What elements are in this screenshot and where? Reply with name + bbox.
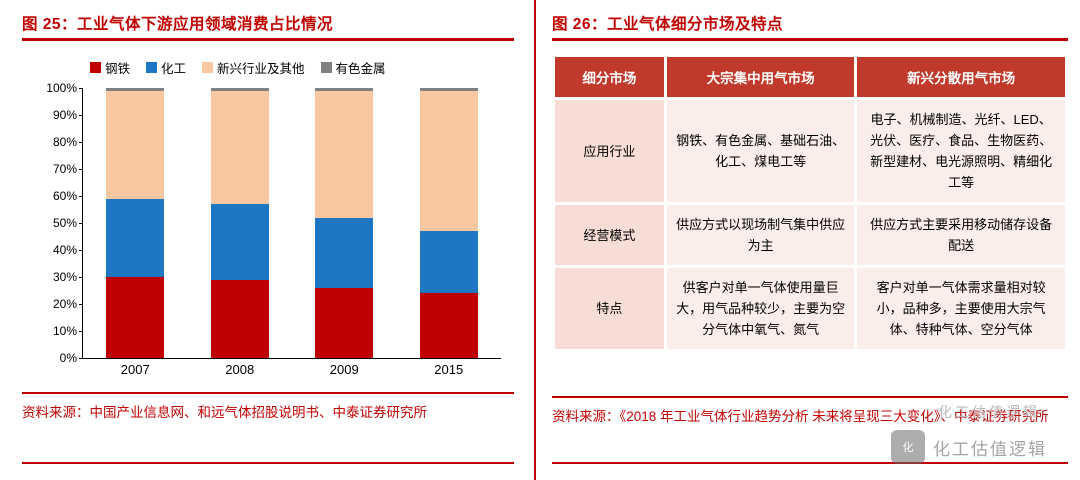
table-header-2: 新兴分散用气市场 <box>857 57 1065 97</box>
legend-label-steel: 钢铁 <box>105 58 130 77</box>
table-row: 应用行业 钢铁、有色金属、基础石油、化工、煤电工等 电子、机械制造、光纤、LED… <box>555 100 1065 202</box>
watermark-text: 化工估值逻辑 <box>933 435 1047 460</box>
figure-25-source: 资料来源：中国产业信息网、和远气体招股说明书、中泰证券研究所 <box>22 400 517 426</box>
legend-label-nonferrous: 有色金属 <box>336 58 386 77</box>
y-axis-tick-mark <box>79 196 83 197</box>
legend-swatch-chemical <box>146 62 157 73</box>
row-0-col-2: 电子、机械制造、光纤、LED、光伏、医疗、食品、生物医药、新型建材、电光源照明、… <box>857 100 1065 202</box>
figure-26-title-rule <box>552 38 1068 41</box>
figure-26-title: 图 26：工业气体细分市场及特点 <box>552 12 1062 34</box>
bar-2009 <box>315 88 373 358</box>
bar-segment-钢铁 <box>106 277 164 358</box>
bar-2007 <box>106 88 164 358</box>
y-axis-tick-label: 100% <box>46 81 83 95</box>
bar-2008 <box>211 88 269 358</box>
figure-25-source-rule-top <box>22 392 514 394</box>
row-label-2: 特点 <box>555 268 664 349</box>
legend-swatch-nonferrous <box>321 62 332 73</box>
bar-segment-新兴行业及其他 <box>106 91 164 199</box>
y-axis-tick-mark <box>79 331 83 332</box>
legend-label-emerging: 新兴行业及其他 <box>217 58 305 77</box>
bar-segment-有色金属 <box>106 88 164 91</box>
legend-item-0: 钢铁 <box>90 58 130 77</box>
chart-legend: 钢铁 化工 新兴行业及其他 有色金属 <box>90 58 386 77</box>
legend-item-3: 有色金属 <box>321 58 386 77</box>
figure-25-title: 图 25：工业气体下游应用领域消费占比情况 <box>22 12 512 34</box>
row-1-col-1: 供应方式以现场制气集中供应为主 <box>667 205 854 265</box>
x-axis-tick-label: 2015 <box>409 362 489 377</box>
panel-divider <box>534 0 536 480</box>
bar-segment-新兴行业及其他 <box>420 91 478 231</box>
y-axis-tick-mark <box>79 277 83 278</box>
legend-item-2: 新兴行业及其他 <box>202 58 305 77</box>
row-2-col-1: 供客户对单一气体使用量巨大，用气品种较少，主要为空分气体中氧气、氮气 <box>667 268 854 349</box>
watermark-badge: 化 化工估值逻辑 <box>891 424 1066 470</box>
legend-swatch-emerging <box>202 62 213 73</box>
table-header-0: 细分市场 <box>555 57 664 97</box>
stacked-bar-chart: 0%10%20%30%40%50%60%70%80%90%100%2007200… <box>22 80 512 380</box>
y-axis-tick-mark <box>79 358 83 359</box>
figure-26-panel: 图 26：工业气体细分市场及特点 细分市场 大宗集中用气市场 新兴分散用气市场 … <box>540 0 1080 480</box>
y-axis-tick-mark <box>79 223 83 224</box>
bar-segment-钢铁 <box>315 288 373 358</box>
bar-segment-新兴行业及其他 <box>211 91 269 204</box>
y-axis-tick-mark <box>79 88 83 89</box>
figure-26-source-rule-top <box>552 396 1068 398</box>
y-axis-tick-mark <box>79 169 83 170</box>
legend-item-1: 化工 <box>146 58 186 77</box>
bar-2015 <box>420 88 478 358</box>
row-1-col-2: 供应方式主要采用移动储存设备配送 <box>857 205 1065 265</box>
table-row: 经营模式 供应方式以现场制气集中供应为主 供应方式主要采用移动储存设备配送 <box>555 205 1065 265</box>
row-2-col-2: 客户对单一气体需求量相对较小，品种多，主要使用大宗气体、特种气体、空分气体 <box>857 268 1065 349</box>
bar-segment-有色金属 <box>420 88 478 91</box>
market-segment-table: 细分市场 大宗集中用气市场 新兴分散用气市场 应用行业 钢铁、有色金属、基础石油… <box>552 54 1068 352</box>
table-header-1: 大宗集中用气市场 <box>667 57 854 97</box>
legend-swatch-steel <box>90 62 101 73</box>
bar-segment-化工 <box>315 218 373 288</box>
y-axis-tick-mark <box>79 304 83 305</box>
figure-25-panel: 图 25：工业气体下游应用领域消费占比情况 钢铁 化工 新兴行业及其他 有色金属… <box>0 0 530 480</box>
y-axis-tick-mark <box>79 115 83 116</box>
table-row: 特点 供客户对单一气体使用量巨大，用气品种较少，主要为空分气体中氧气、氮气 客户… <box>555 268 1065 349</box>
bar-segment-钢铁 <box>211 280 269 358</box>
bar-segment-新兴行业及其他 <box>315 91 373 218</box>
bar-segment-化工 <box>420 231 478 293</box>
row-0-col-1: 钢铁、有色金属、基础石油、化工、煤电工等 <box>667 100 854 202</box>
figure-25-title-rule <box>22 38 514 41</box>
watermark-ghost: 化工估值逻辑 <box>938 402 1040 422</box>
row-label-0: 应用行业 <box>555 100 664 202</box>
bar-segment-有色金属 <box>211 88 269 91</box>
y-axis-tick-mark <box>79 250 83 251</box>
bar-segment-化工 <box>211 204 269 280</box>
figure-25-source-rule-bottom <box>22 462 514 464</box>
bar-segment-钢铁 <box>420 293 478 358</box>
bar-segment-有色金属 <box>315 88 373 91</box>
y-axis-tick-mark <box>79 142 83 143</box>
chart-plot-area: 0%10%20%30%40%50%60%70%80%90%100%2007200… <box>82 88 501 359</box>
table-header-row: 细分市场 大宗集中用气市场 新兴分散用气市场 <box>555 57 1065 97</box>
legend-label-chemical: 化工 <box>161 58 186 77</box>
x-axis-tick-label: 2009 <box>304 362 384 377</box>
watermark-logo-icon: 化 <box>891 430 925 464</box>
x-axis-tick-label: 2008 <box>200 362 280 377</box>
x-axis-tick-label: 2007 <box>95 362 175 377</box>
row-label-1: 经营模式 <box>555 205 664 265</box>
page-root: 图 25：工业气体下游应用领域消费占比情况 钢铁 化工 新兴行业及其他 有色金属… <box>0 0 1080 480</box>
bar-segment-化工 <box>106 199 164 277</box>
